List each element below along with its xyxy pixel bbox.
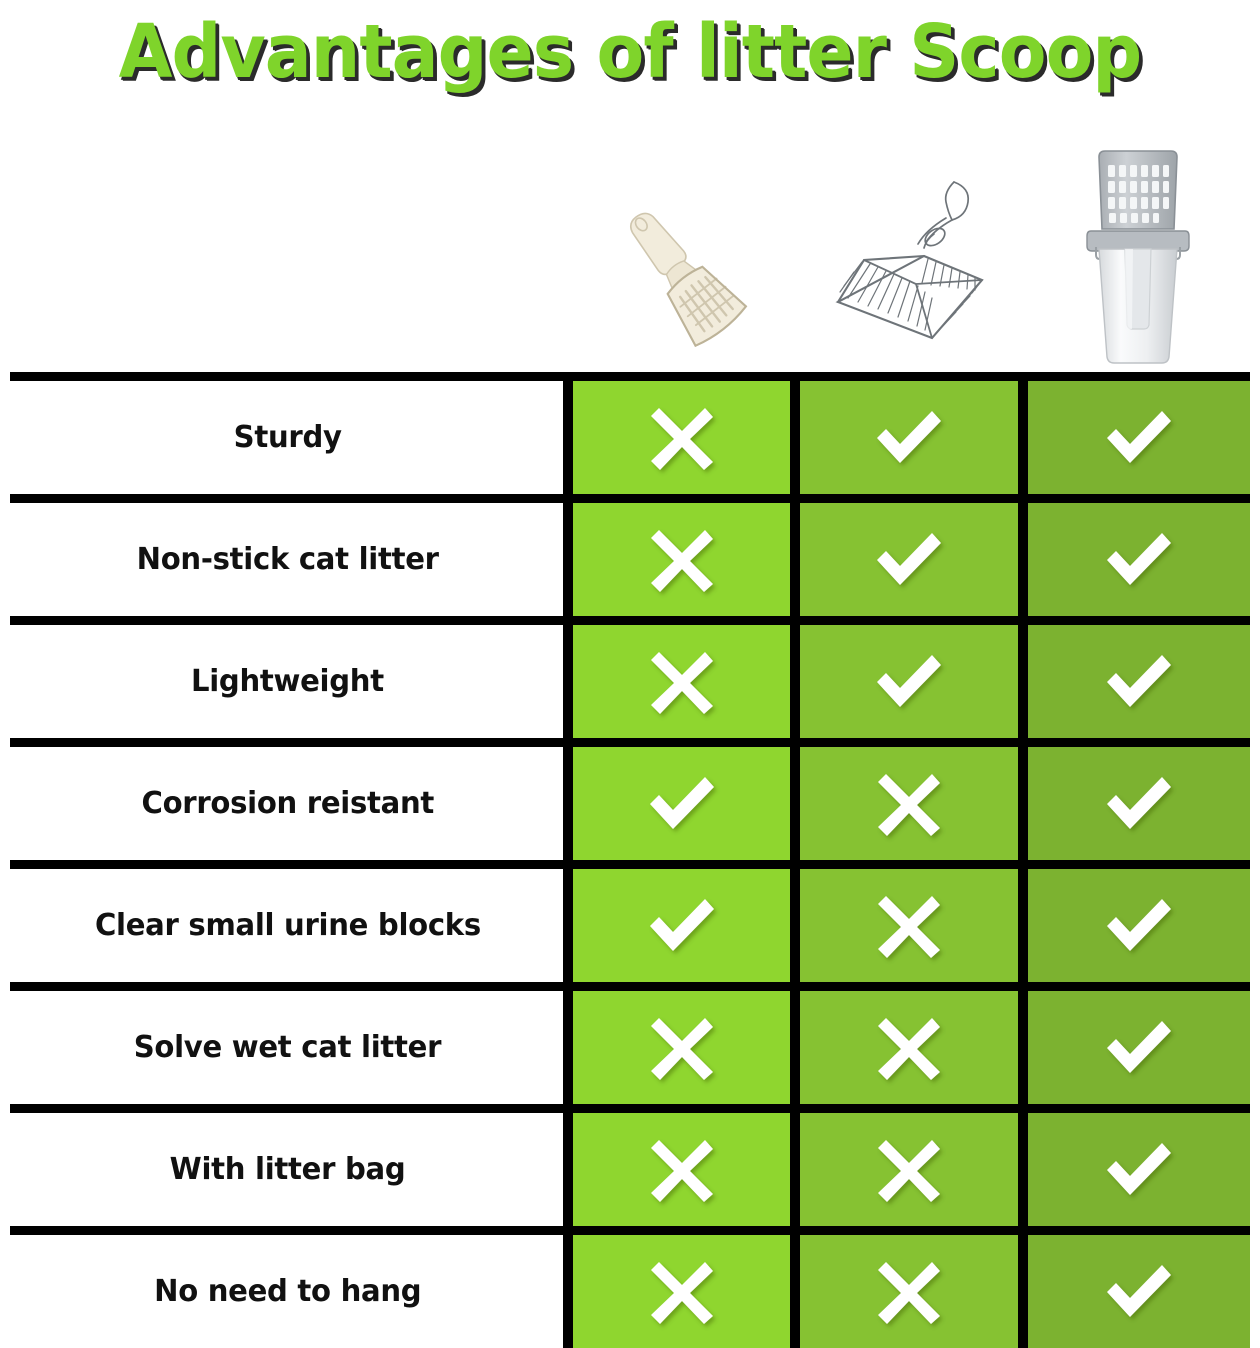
cell-col3 (1028, 747, 1250, 860)
check-glyph (877, 533, 941, 585)
column-divider (790, 747, 800, 860)
cell-col1 (573, 869, 790, 982)
check-icon (638, 760, 726, 848)
feature-label-cell: No need to hang (10, 1235, 565, 1348)
cell-col2 (800, 1235, 1018, 1348)
column-divider (1018, 747, 1028, 860)
check-glyph (877, 411, 941, 463)
product-header-row (573, 130, 1248, 370)
check-icon (865, 638, 953, 726)
check-icon (638, 882, 726, 970)
check-glyph (1107, 777, 1171, 829)
table-row: With litter bag (10, 1104, 1250, 1226)
cross-glyph (878, 896, 940, 958)
cell-col2 (800, 503, 1018, 616)
column-divider (1018, 991, 1028, 1104)
column-divider (790, 869, 800, 982)
cell-col3 (1028, 991, 1250, 1104)
check-glyph (650, 777, 714, 829)
column-divider (1018, 1235, 1028, 1348)
cross-icon (865, 1248, 953, 1336)
cross-icon (865, 1004, 953, 1092)
cell-col1 (573, 747, 790, 860)
check-glyph (650, 899, 714, 951)
feature-label: No need to hang (154, 1274, 421, 1309)
check-glyph (1107, 1143, 1171, 1195)
cell-col3 (1028, 869, 1250, 982)
cross-glyph (878, 1140, 940, 1202)
feature-label-cell: With litter bag (10, 1113, 565, 1226)
plastic-scoop-icon (582, 170, 782, 370)
table-row: Non-stick cat litter (10, 494, 1250, 616)
grid-scoop-holder-icon (1063, 145, 1213, 370)
cross-glyph (651, 1262, 713, 1324)
product-image-grid-scoop-with-holder (1028, 130, 1248, 370)
cell-col3 (1028, 1235, 1250, 1348)
check-icon (865, 516, 953, 604)
column-divider (1018, 381, 1028, 494)
feature-label: Lightweight (191, 664, 384, 699)
cell-col3 (1028, 1113, 1250, 1226)
cell-col2 (800, 747, 1018, 860)
table-row: Solve wet cat litter (10, 982, 1250, 1104)
feature-label: Corrosion reistant (141, 786, 434, 821)
column-divider (790, 503, 800, 616)
check-icon (1095, 1126, 1183, 1214)
product-image-metal-wire-scoop (800, 130, 1018, 370)
cell-col1 (573, 381, 790, 494)
cross-glyph (651, 1018, 713, 1080)
cell-col2 (800, 1113, 1018, 1226)
cell-col3 (1028, 625, 1250, 738)
cross-glyph (651, 1140, 713, 1202)
cell-col1 (573, 1113, 790, 1226)
cell-col1 (573, 1235, 790, 1348)
cell-col1 (573, 991, 790, 1104)
feature-label: With litter bag (170, 1152, 406, 1187)
cross-glyph (878, 774, 940, 836)
feature-label-cell: Lightweight (10, 625, 565, 738)
column-divider (790, 991, 800, 1104)
cell-col2 (800, 991, 1018, 1104)
feature-label-cell: Non-stick cat litter (10, 503, 565, 616)
cell-col2 (800, 625, 1018, 738)
check-icon (1095, 1004, 1183, 1092)
cross-icon (865, 1126, 953, 1214)
cross-icon (638, 516, 726, 604)
cell-col1 (573, 503, 790, 616)
comparison-table: Sturdy Non-stick cat litter Lightweight (10, 372, 1250, 1348)
column-divider (1018, 869, 1028, 982)
page-title: Advantages of litter Scoop (0, 4, 1260, 100)
cross-glyph (651, 530, 713, 592)
cell-col2 (800, 869, 1018, 982)
check-glyph (1107, 1021, 1171, 1073)
check-icon (1095, 394, 1183, 482)
column-divider (1018, 503, 1028, 616)
feature-label: Sturdy (233, 420, 341, 455)
feature-label-cell: Clear small urine blocks (10, 869, 565, 982)
table-row: No need to hang (10, 1226, 1250, 1348)
feature-label-cell: Corrosion reistant (10, 747, 565, 860)
feature-label: Non-stick cat litter (136, 542, 438, 577)
check-glyph (1107, 899, 1171, 951)
page-title-text: Advantages of litter Scoop (119, 15, 1142, 89)
wire-scoop-icon (804, 160, 1014, 370)
cross-icon (638, 1004, 726, 1092)
cross-icon (638, 1126, 726, 1214)
column-divider (1018, 625, 1028, 738)
cell-col3 (1028, 381, 1250, 494)
column-divider (790, 1235, 800, 1348)
feature-label: Clear small urine blocks (95, 908, 481, 943)
check-glyph (1107, 411, 1171, 463)
column-divider (563, 747, 573, 860)
check-icon (865, 394, 953, 482)
column-divider (563, 869, 573, 982)
check-glyph (1107, 533, 1171, 585)
cross-icon (865, 760, 953, 848)
check-icon (1095, 760, 1183, 848)
cell-col3 (1028, 503, 1250, 616)
check-icon (1095, 1248, 1183, 1336)
column-divider (563, 625, 573, 738)
cross-icon (865, 882, 953, 970)
column-divider (790, 625, 800, 738)
cross-icon (638, 638, 726, 726)
check-glyph (877, 655, 941, 707)
column-divider (563, 991, 573, 1104)
feature-label: Solve wet cat litter (134, 1030, 441, 1065)
table-row: Lightweight (10, 616, 1250, 738)
cross-glyph (878, 1262, 940, 1324)
table-row: Corrosion reistant (10, 738, 1250, 860)
feature-label-cell: Solve wet cat litter (10, 991, 565, 1104)
cross-glyph (878, 1018, 940, 1080)
column-divider (563, 503, 573, 616)
column-divider (790, 381, 800, 494)
column-divider (1018, 1113, 1028, 1226)
cross-glyph (651, 652, 713, 714)
column-divider (790, 1113, 800, 1226)
cross-icon (638, 394, 726, 482)
table-row: Clear small urine blocks (10, 860, 1250, 982)
check-icon (1095, 516, 1183, 604)
column-divider (563, 1113, 573, 1226)
cell-col1 (573, 625, 790, 738)
column-divider (563, 1235, 573, 1348)
check-glyph (1107, 655, 1171, 707)
product-image-plastic-slotted-scoop (573, 130, 790, 370)
cross-icon (638, 1248, 726, 1336)
cell-col2 (800, 381, 1018, 494)
table-row: Sturdy (10, 372, 1250, 494)
cross-glyph (651, 408, 713, 470)
check-icon (1095, 882, 1183, 970)
comparison-infographic: Advantages of litter Scoop (0, 0, 1260, 1348)
feature-label-cell: Sturdy (10, 381, 565, 494)
column-divider (563, 381, 573, 494)
check-glyph (1107, 1265, 1171, 1317)
check-icon (1095, 638, 1183, 726)
